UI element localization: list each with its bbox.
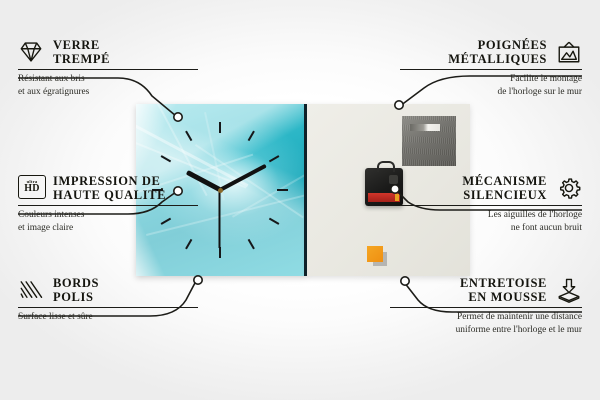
gear-icon xyxy=(556,175,582,201)
feature-header: VERRETREMPÉ xyxy=(18,38,198,66)
clock-tick xyxy=(219,122,221,190)
clock-mechanism xyxy=(365,168,403,206)
feature-title: IMPRESSION DEHAUTE QUALITÉ xyxy=(53,174,166,202)
feature-title: POIGNÉESMÉTALLIQUES xyxy=(448,38,547,66)
metal-handle-plate xyxy=(402,116,456,166)
feature-header: BORDSPOLIS xyxy=(18,276,198,304)
feature-divider xyxy=(18,69,198,70)
feature-verre-trempe: VERRETREMPÉ Résistant aux briset aux égr… xyxy=(18,38,198,98)
feature-subtitle: Résistant aux briset aux égratignures xyxy=(18,73,198,97)
feature-title: ENTRETOISEEN MOUSSE xyxy=(460,276,547,304)
ultra-hd-icon: ultra HD xyxy=(18,175,44,201)
feature-title: BORDSPOLIS xyxy=(53,276,99,304)
feature-mecanisme-silencieux: MÉCANISMESILENCIEUX Les aiguilles de l'h… xyxy=(400,174,582,234)
feature-subtitle: Facilite le montagede l'horloge sur le m… xyxy=(400,73,582,97)
mechanism-battery xyxy=(368,193,400,202)
feature-header: MÉCANISMESILENCIEUX xyxy=(400,174,582,202)
mechanism-dial xyxy=(389,175,398,184)
diamond-icon xyxy=(18,39,44,65)
feature-header: ENTRETOISEEN MOUSSE xyxy=(390,276,582,304)
infographic-stage: VERRETREMPÉ Résistant aux briset aux égr… xyxy=(0,0,600,400)
feature-divider xyxy=(18,307,198,308)
clock-tick xyxy=(220,189,288,191)
wall-mount-frame-icon xyxy=(556,39,582,65)
feature-bords-polis: BORDSPOLIS Surface lisse et sûre xyxy=(18,276,198,324)
feature-title: VERRETREMPÉ xyxy=(53,38,110,66)
feature-poignees-metalliques: POIGNÉESMÉTALLIQUES Facilite le montaged… xyxy=(400,38,582,98)
feature-header: ultra HD IMPRESSION DEHAUTE QUALITÉ xyxy=(18,174,198,202)
clock-center-pin xyxy=(218,188,223,193)
feature-divider xyxy=(400,205,582,206)
feature-title: MÉCANISMESILENCIEUX xyxy=(462,174,547,202)
feature-entretoise-en-mousse: ENTRETOISEEN MOUSSE Permet de maintenir … xyxy=(390,276,582,336)
feature-divider xyxy=(400,69,582,70)
feature-subtitle: Surface lisse et sûre xyxy=(18,311,198,323)
foam-spacer xyxy=(367,246,383,262)
feature-impression-haute-qualite: ultra HD IMPRESSION DEHAUTE QUALITÉ Coul… xyxy=(18,174,198,234)
metal-handle-slot xyxy=(410,124,440,131)
mechanism-hanger-hook xyxy=(377,161,395,172)
battery-terminal xyxy=(395,194,399,201)
foam-spacer-arrow-icon xyxy=(556,277,582,303)
feature-subtitle: Permet de maintenir une distanceuniforme… xyxy=(390,311,582,335)
feature-subtitle: Les aiguilles de l'horlogene font aucun … xyxy=(400,209,582,233)
feature-header: POIGNÉESMÉTALLIQUES xyxy=(400,38,582,66)
feature-subtitle: Couleurs intenseset image claire xyxy=(18,209,198,233)
polished-edges-icon xyxy=(18,277,44,303)
feature-divider xyxy=(18,205,198,206)
feature-divider xyxy=(390,307,582,308)
